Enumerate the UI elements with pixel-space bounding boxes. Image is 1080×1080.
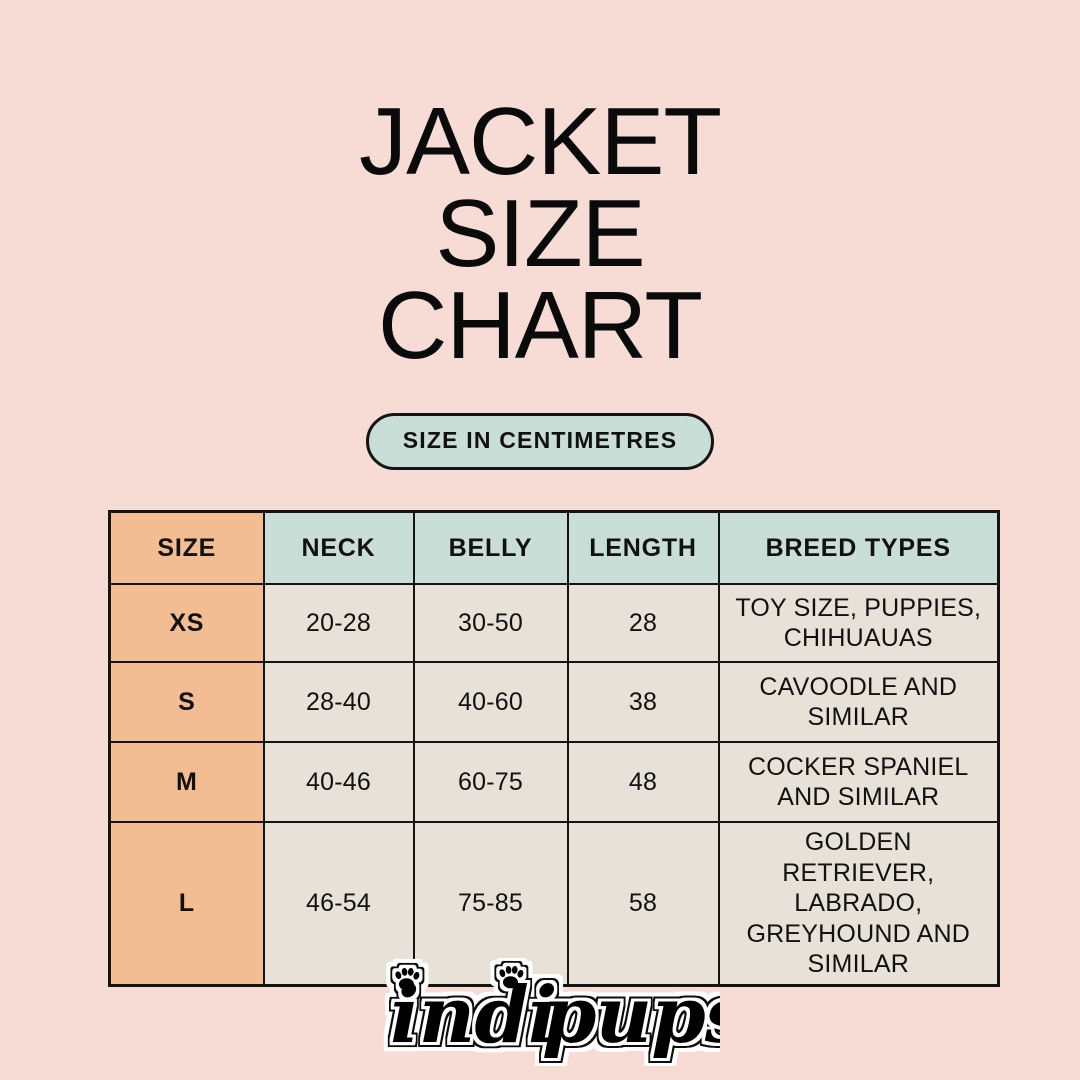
logo-word-pups: pups xyxy=(542,970,720,1061)
cell-belly: 40-60 xyxy=(414,662,568,742)
cell-size: M xyxy=(110,742,264,822)
logo-word-indi: indi xyxy=(390,970,557,1061)
cell-length: 28 xyxy=(568,584,719,662)
size-table-container: SIZE NECK BELLY LENGTH BREED TYPES XS 20… xyxy=(108,510,997,987)
size-chart-page: JACKET SIZE CHART SIZE IN CENTIMETRES SI… xyxy=(0,0,1080,1080)
table-header-row: SIZE NECK BELLY LENGTH BREED TYPES xyxy=(110,512,999,585)
table-row: XS 20-28 30-50 28 TOY SIZE, PUPPIES, CHI… xyxy=(110,584,999,662)
title-line-2: SIZE xyxy=(0,188,1080,280)
cell-length: 38 xyxy=(568,662,719,742)
cell-belly: 30-50 xyxy=(414,584,568,662)
cell-neck: 20-28 xyxy=(264,584,414,662)
title-line-1: JACKET xyxy=(0,96,1080,188)
title-line-3: CHART xyxy=(0,280,1080,372)
cell-size: S xyxy=(110,662,264,742)
brand-logo: indi pups xyxy=(0,958,1080,1066)
cell-size: XS xyxy=(110,584,264,662)
column-header-neck: NECK xyxy=(264,512,414,585)
cell-breed: CAVOODLE AND SIMILAR xyxy=(719,662,999,742)
cell-neck: 28-40 xyxy=(264,662,414,742)
table-header: SIZE NECK BELLY LENGTH BREED TYPES xyxy=(110,512,999,585)
table-row: S 28-40 40-60 38 CAVOODLE AND SIMILAR xyxy=(110,662,999,742)
page-title: JACKET SIZE CHART xyxy=(0,96,1080,372)
column-header-size: SIZE xyxy=(110,512,264,585)
cell-belly: 60-75 xyxy=(414,742,568,822)
table-body: XS 20-28 30-50 28 TOY SIZE, PUPPIES, CHI… xyxy=(110,584,999,985)
column-header-belly: BELLY xyxy=(414,512,568,585)
brand-logo-svg: indi pups xyxy=(360,958,720,1066)
logo-lettering-group: indi pups xyxy=(390,966,720,1061)
cell-breed: COCKER SPANIEL AND SIMILAR xyxy=(719,742,999,822)
unit-badge-container: SIZE IN CENTIMETRES xyxy=(0,413,1080,470)
column-header-length: LENGTH xyxy=(568,512,719,585)
cell-length: 48 xyxy=(568,742,719,822)
size-table: SIZE NECK BELLY LENGTH BREED TYPES XS 20… xyxy=(108,510,1000,987)
column-header-breed: BREED TYPES xyxy=(719,512,999,585)
table-row: M 40-46 60-75 48 COCKER SPANIEL AND SIMI… xyxy=(110,742,999,822)
unit-badge: SIZE IN CENTIMETRES xyxy=(366,413,715,470)
cell-neck: 40-46 xyxy=(264,742,414,822)
cell-breed: TOY SIZE, PUPPIES, CHIHUAUAS xyxy=(719,584,999,662)
